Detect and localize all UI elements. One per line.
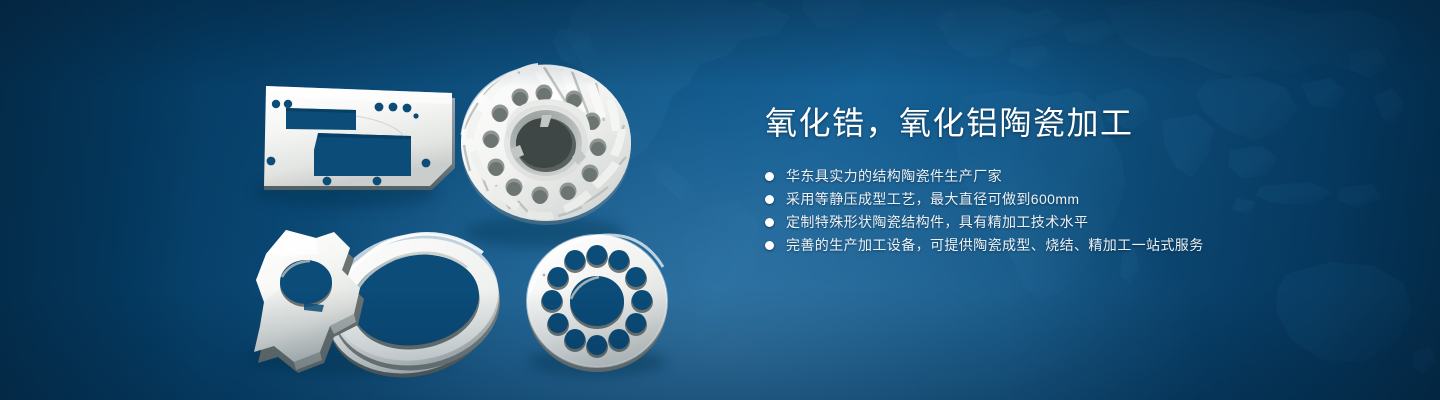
bullet-dot-icon	[765, 172, 774, 181]
feature-text: 华东具实力的结构陶瓷件生产厂家	[786, 169, 1002, 184]
bullet-dot-icon	[765, 195, 774, 204]
list-item: 采用等静压成型工艺，最大直径可做到600mm	[765, 192, 1385, 207]
banner-text-block: 氧化锆，氧化铝陶瓷加工 华东具实力的结构陶瓷件生产厂家 采用等静压成型工艺，最大…	[765, 104, 1385, 253]
bullet-dot-icon	[765, 241, 774, 250]
bullet-dot-icon	[765, 218, 774, 227]
banner-headline: 氧化锆，氧化铝陶瓷加工	[765, 104, 1385, 142]
list-item: 华东具实力的结构陶瓷件生产厂家	[765, 169, 1385, 184]
feature-text: 完善的生产加工设备，可提供陶瓷成型、烧结、精加工一站式服务	[786, 238, 1204, 253]
feature-text: 采用等静压成型工艺，最大直径可做到600mm	[786, 192, 1079, 207]
list-item: 完善的生产加工设备，可提供陶瓷成型、烧结、精加工一站式服务	[765, 238, 1385, 253]
feature-text: 定制特殊形状陶瓷结构件，具有精加工技术水平	[786, 215, 1088, 230]
banner-feature-list: 华东具实力的结构陶瓷件生产厂家 采用等静压成型工艺，最大直径可做到600mm 定…	[765, 169, 1385, 253]
product-banner: 氧化锆，氧化铝陶瓷加工 华东具实力的结构陶瓷件生产厂家 采用等静压成型工艺，最大…	[0, 0, 1440, 400]
list-item: 定制特殊形状陶瓷结构件，具有精加工技术水平	[765, 215, 1385, 230]
